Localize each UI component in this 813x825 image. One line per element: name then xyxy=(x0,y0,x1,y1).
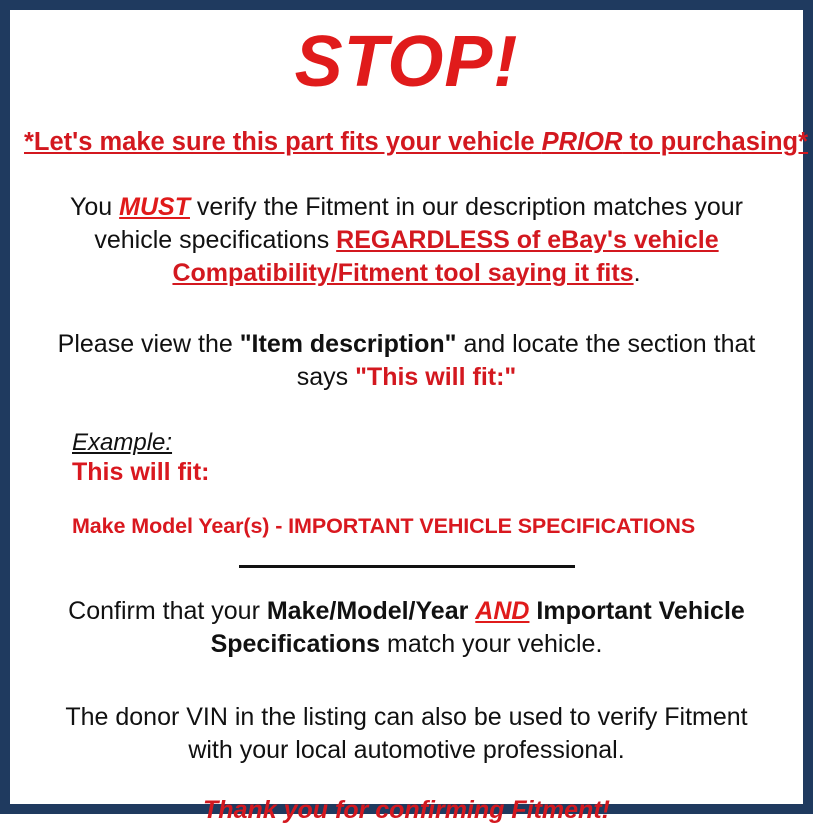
emphasis-item-description: "Item description" xyxy=(240,330,457,358)
page-title: STOP! xyxy=(24,26,789,98)
subtitle-text-before: *Let's make sure this part fits your veh… xyxy=(24,128,542,156)
subtitle-emphasis-prior: PRIOR xyxy=(542,128,623,156)
confirm-text-lead: Confirm that your xyxy=(68,597,267,625)
must-text-end: . xyxy=(634,259,641,287)
emphasis-this-will-fit-quote: "This will fit:" xyxy=(355,363,516,391)
must-text-lead: You xyxy=(70,193,119,221)
example-label: Example: xyxy=(72,430,789,457)
horizontal-divider xyxy=(239,565,575,568)
description-text-lead: Please view the xyxy=(58,330,240,358)
emphasis-make-model-year: Make/Model/Year xyxy=(267,597,468,625)
emphasis-and: AND xyxy=(475,597,529,625)
example-fit-header: This will fit: xyxy=(72,458,789,488)
emphasis-must: MUST xyxy=(119,193,190,221)
paragraph-donor-vin: The donor VIN in the listing can also be… xyxy=(50,701,763,767)
paragraph-item-description: Please view the "Item description" and l… xyxy=(50,328,763,394)
thank-you-message: Thank you for confirming Fitment! xyxy=(24,795,789,825)
divider-wrap xyxy=(24,565,789,579)
example-block: Example: This will fit: Make Model Year(… xyxy=(24,430,789,538)
subtitle-banner: *Let's make sure this part fits your veh… xyxy=(24,128,789,157)
example-spec-line: Make Model Year(s) - IMPORTANT VEHICLE S… xyxy=(72,514,789,539)
subtitle-text-after: to purchasing* xyxy=(622,128,808,156)
paragraph-confirm: Confirm that your Make/Model/Year AND Im… xyxy=(50,595,763,661)
fitment-notice-frame: STOP! *Let's make sure this part fits yo… xyxy=(0,0,813,814)
confirm-text-end: match your vehicle. xyxy=(380,630,602,658)
paragraph-must-verify: You MUST verify the Fitment in our descr… xyxy=(50,191,763,290)
fitment-notice-body: STOP! *Let's make sure this part fits yo… xyxy=(10,10,803,804)
